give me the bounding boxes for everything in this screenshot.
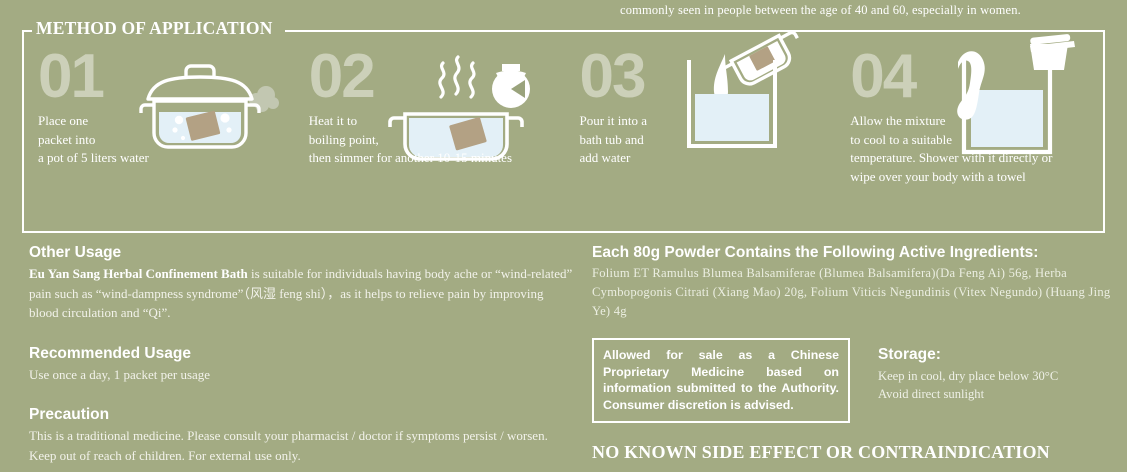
storage-line-1: Keep in cool, dry place below 30°C: [878, 367, 1058, 385]
method-steps-row: 01 Place one packet into a pot of 5 lite…: [22, 30, 1105, 233]
recommended-usage-body: Use once a day, 1 packet per usage: [29, 365, 574, 385]
method-step-01: 01 Place one packet into a pot of 5 lite…: [22, 30, 293, 233]
brand-name: Eu Yan Sang Herbal Confinement Bath: [29, 266, 248, 281]
other-usage-heading: Other Usage: [29, 244, 574, 262]
infographic-page: commonly seen in people between the age …: [0, 0, 1127, 472]
storage-section: Storage: Keep in cool, dry place below 3…: [878, 338, 1058, 423]
precaution-heading: Precaution: [29, 406, 574, 424]
method-step-02: 02 Heat it to boiling point, then simmer…: [293, 30, 564, 233]
precaution-body: This is a traditional medicine. Please c…: [29, 426, 574, 465]
recommended-usage-heading: Recommended Usage: [29, 345, 574, 363]
step-number: 01: [38, 48, 283, 106]
step-description: Place one packet into a pot of 5 liters …: [38, 112, 283, 168]
method-step-03: 03 Pour it into a bath tub and add water: [564, 30, 835, 233]
left-text-column: Other Usage Eu Yan Sang Herbal Confineme…: [29, 244, 574, 465]
method-step-04: 04 Allow the mixture to cool to a suitab…: [834, 30, 1105, 233]
no-side-effect-banner: NO KNOWN SIDE EFFECT OR CONTRAINDICATION: [592, 442, 1127, 463]
storage-line-2: Avoid direct sunlight: [878, 385, 1058, 403]
authority-notice-box: Allowed for sale as a Chinese Proprietar…: [592, 338, 850, 423]
notice-and-storage-row: Allowed for sale as a Chinese Proprietar…: [592, 338, 1127, 423]
storage-heading: Storage:: [878, 346, 1058, 364]
right-text-column: Each 80g Powder Contains the Following A…: [592, 244, 1127, 463]
step-description: Pour it into a bath tub and add water: [580, 112, 825, 168]
top-note-text: commonly seen in people between the age …: [620, 3, 1120, 18]
step-description: Heat it to boiling point, then simmer fo…: [309, 112, 554, 168]
method-of-application-title: METHOD OF APPLICATION: [32, 18, 285, 39]
step-number: 04: [850, 48, 1095, 106]
step-description: Allow the mixture to cool to a suitable …: [850, 112, 1095, 186]
ingredients-body: Folium ET Ramulus Blumea Balsamiferae (B…: [592, 264, 1112, 321]
step-number: 02: [309, 48, 554, 106]
other-usage-body: Eu Yan Sang Herbal Confinement Bath is s…: [29, 264, 574, 323]
ingredients-heading: Each 80g Powder Contains the Following A…: [592, 244, 1127, 262]
step-number: 03: [580, 48, 825, 106]
